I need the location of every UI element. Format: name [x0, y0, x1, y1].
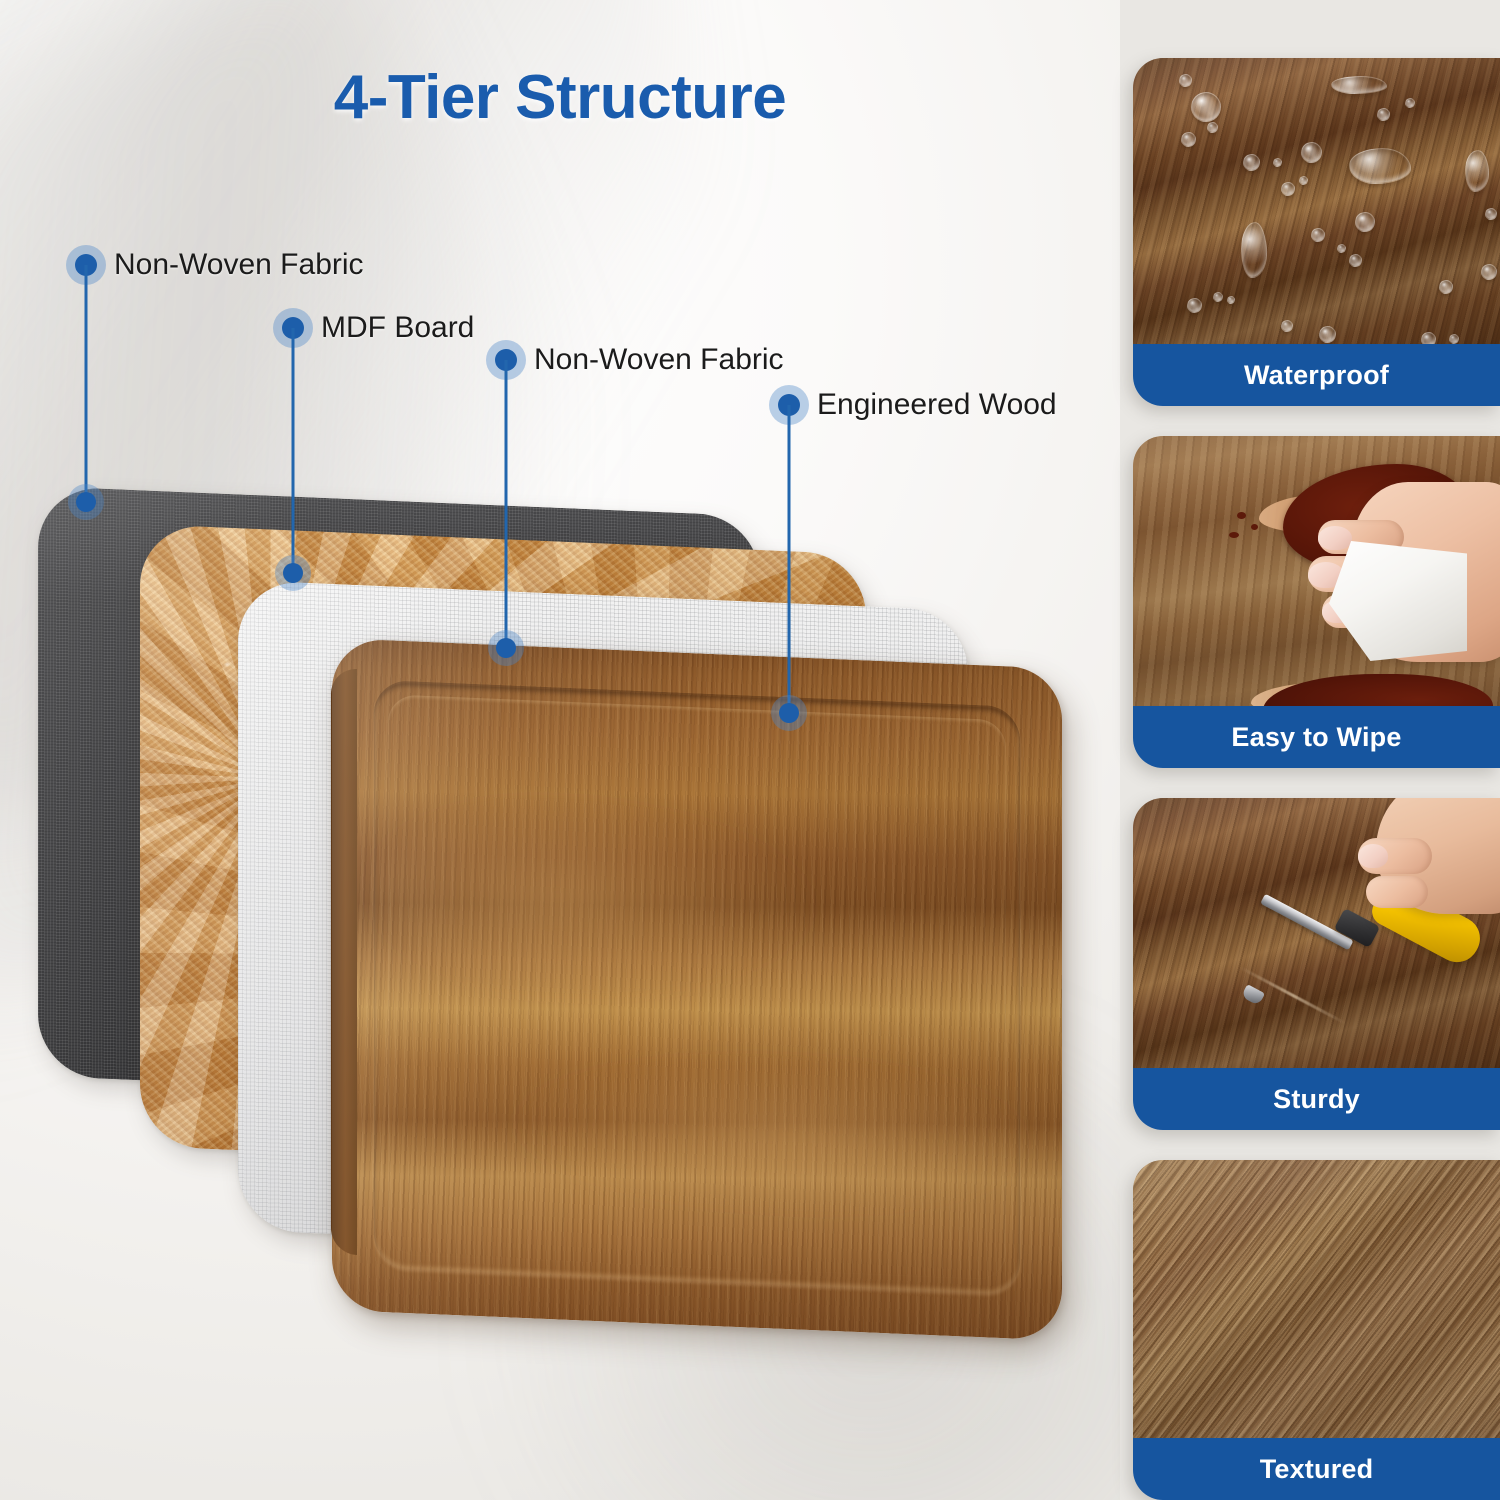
panel-photo-waterproof	[1133, 58, 1500, 344]
water-droplet-icon	[1439, 280, 1453, 294]
callout-label: Non-Woven Fabric	[534, 343, 784, 377]
crumb-speck	[1237, 512, 1246, 519]
feature-panel-column: Waterproof	[1133, 0, 1500, 1500]
water-droplet-icon	[1319, 326, 1336, 343]
water-droplet-icon	[1377, 108, 1390, 121]
panel-caption-easy-to-wipe: Easy to Wipe	[1133, 706, 1500, 768]
finger	[1366, 876, 1428, 908]
callout-connector-line	[505, 360, 508, 648]
crumb-speck	[1229, 532, 1239, 538]
water-droplet-icon	[1213, 292, 1223, 302]
water-droplet-icon	[1349, 148, 1411, 184]
water-droplet-icon	[1179, 74, 1192, 87]
water-droplet-icon	[1181, 132, 1196, 147]
callout-label: Non-Woven Fabric	[114, 248, 364, 282]
water-droplet-icon	[1405, 98, 1415, 108]
callout-label: MDF Board	[321, 311, 474, 345]
water-droplet-icon	[1421, 332, 1436, 344]
water-droplet-icon	[1349, 254, 1362, 267]
water-droplet-icon	[1449, 334, 1459, 344]
water-droplet-icon	[1227, 296, 1235, 304]
page-title: 4-Tier Structure	[0, 62, 1120, 133]
water-droplet-icon	[1299, 176, 1308, 185]
water-droplet-icon	[1465, 150, 1489, 192]
panel-caption-sturdy: Sturdy	[1133, 1068, 1500, 1130]
fingernail	[1318, 526, 1352, 550]
water-droplet-icon	[1243, 154, 1260, 171]
water-droplet-icon	[1355, 212, 1375, 232]
photo-vignette	[1133, 1160, 1500, 1438]
callout-anchor-dot	[779, 703, 799, 723]
panel-easy-to-wipe[interactable]: Easy to Wipe	[1133, 436, 1500, 768]
panel-caption-textured: Textured	[1133, 1438, 1500, 1500]
water-droplet-icon	[1273, 158, 1282, 167]
panel-caption-waterproof: Waterproof	[1133, 344, 1500, 406]
callout-anchor-dot	[496, 638, 516, 658]
hand	[1376, 798, 1500, 914]
callout-anchor-dot	[283, 563, 303, 583]
water-droplet-icon	[1481, 264, 1497, 280]
water-droplet-icon	[1191, 92, 1221, 122]
callout-label: Engineered Wood	[817, 388, 1057, 422]
panel-photo-textured	[1133, 1160, 1500, 1438]
water-droplet-icon	[1187, 298, 1202, 313]
water-droplet-icon	[1331, 76, 1387, 94]
callout-connector-line	[292, 328, 295, 573]
callout-connector-line	[788, 405, 791, 713]
panel-textured[interactable]: Textured	[1133, 1160, 1500, 1500]
panel-waterproof[interactable]: Waterproof	[1133, 58, 1500, 406]
water-droplet-icon	[1301, 142, 1322, 163]
fingernail	[1358, 844, 1388, 868]
panel-photo-easy-to-wipe	[1133, 436, 1500, 706]
panel-sturdy[interactable]: Sturdy	[1133, 798, 1500, 1130]
water-droplet-icon	[1281, 182, 1295, 196]
water-droplet-icon	[1281, 320, 1293, 332]
water-droplet-icon	[1311, 228, 1325, 242]
callout-connector-line	[85, 265, 88, 502]
panel-photo-sturdy	[1133, 798, 1500, 1068]
crumb-speck	[1251, 524, 1258, 530]
water-droplet-icon	[1241, 222, 1267, 278]
water-droplet-icon	[1207, 122, 1218, 133]
water-droplet-icon	[1337, 244, 1346, 253]
water-droplet-icon	[1485, 208, 1497, 220]
callout-anchor-dot	[76, 492, 96, 512]
callout-group: Non-Woven Fabric MDF Board Non-Woven Fab…	[0, 0, 1120, 1500]
infographic-root: 4-Tier Structure Non-Woven Fabric	[0, 0, 1500, 1500]
